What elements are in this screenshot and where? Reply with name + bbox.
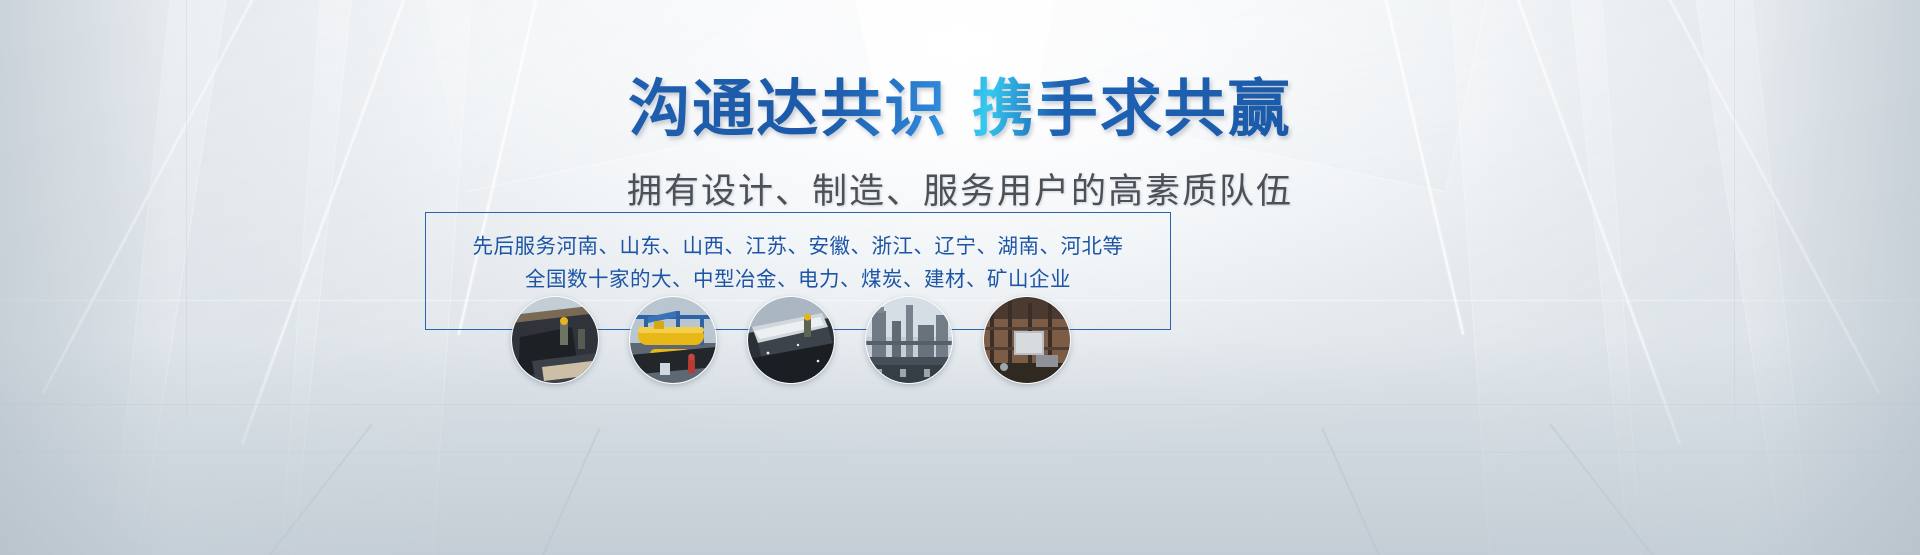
steel-plate-installation-photo	[511, 296, 599, 384]
page-title: 沟通达共识 携手求共赢	[0, 78, 1920, 140]
metal-panel-assembly-photo	[747, 296, 835, 384]
construction-interior-photo	[983, 296, 1071, 384]
page-subtitle: 拥有设计、制造、服务用户的高素质队伍	[0, 163, 1920, 214]
promotional-banner: 沟通达共识 携手求共赢 拥有设计、制造、服务用户的高素质队伍 先后服务河南、山东…	[0, 0, 1920, 555]
service-scope-line-2: 全国数十家的大、中型冶金、电力、煤炭、建材、矿山企业	[425, 263, 1171, 296]
service-scope-text: 先后服务河南、山东、山西、江苏、安徽、浙江、辽宁、湖南、河北等 全国数十家的大、…	[425, 230, 1171, 296]
yellow-rotary-equipment-photo	[629, 296, 717, 384]
industrial-plant-photo	[865, 296, 953, 384]
project-thumbnail-row	[511, 296, 1071, 396]
service-scope-line-1: 先后服务河南、山东、山西、江苏、安徽、浙江、辽宁、湖南、河北等	[425, 230, 1171, 263]
headline-text: 沟通达共识 携手求共赢	[628, 72, 1292, 145]
